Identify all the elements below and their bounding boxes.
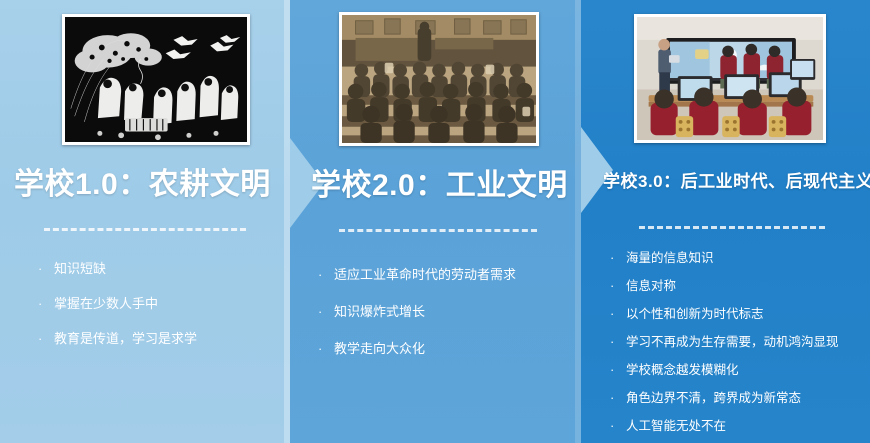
photo-frame-school-2: [339, 12, 539, 146]
bullet-dot-icon: ·: [318, 305, 334, 318]
bullet-dot-icon: ·: [610, 279, 626, 292]
bullet-list-school-2: ·适应工业革命时代的劳动者需求·知识爆炸式增长·教学走向大众化: [318, 264, 516, 375]
bullet-dot-icon: ·: [38, 297, 54, 310]
dashed-separator-2: [339, 229, 537, 232]
list-item: ·知识短缺: [38, 258, 197, 277]
list-item: ·以个性和创新为时代标志: [610, 303, 839, 322]
list-item: ·掌握在少数人手中: [38, 293, 197, 312]
list-item: ·人工智能无处不在: [610, 415, 839, 434]
list-item: ·海量的信息知识: [610, 247, 839, 266]
bullet-dot-icon: ·: [610, 251, 626, 264]
list-item-label: 掌握在少数人手中: [54, 293, 158, 312]
panel-title-school-3: 学校3.0：后工业时代、后现代主义: [603, 167, 870, 192]
list-item-label: 知识短缺: [54, 258, 106, 277]
dashed-separator-3: [639, 226, 825, 229]
list-item: ·知识爆炸式增长: [318, 301, 516, 320]
dashed-separator-1: [44, 228, 246, 231]
panel-title-school-2: 学校2.0：工业文明: [311, 160, 568, 204]
list-item-label: 角色边界不清，跨界成为新常态: [626, 387, 801, 406]
bullet-dot-icon: ·: [610, 335, 626, 348]
panel-divider-2: [575, 0, 581, 443]
list-item-label: 人工智能无处不在: [626, 415, 726, 434]
bullet-dot-icon: ·: [610, 419, 626, 432]
list-item: ·教学走向大众化: [318, 338, 516, 357]
list-item-label: 教育是传道，学习是求学: [54, 328, 197, 347]
list-item: ·信息对称: [610, 275, 839, 294]
list-item-label: 知识爆炸式增长: [334, 301, 425, 320]
list-item: ·学习不再成为生存需要，动机鸿沟显现: [610, 331, 839, 350]
list-item-label: 学校概念越发模糊化: [626, 359, 739, 378]
bullet-list-school-3: ·海量的信息知识·信息对称·以个性和创新为时代标志·学习不再成为生存需要，动机鸿…: [610, 247, 839, 443]
panel-divider-1: [284, 0, 290, 443]
bullet-dot-icon: ·: [610, 307, 626, 320]
list-item-label: 信息对称: [626, 275, 676, 294]
bullet-dot-icon: ·: [38, 262, 54, 275]
ancient-chinese-scholars-woodcut-image: [65, 17, 247, 142]
bullet-dot-icon: ·: [318, 268, 334, 281]
photo-frame-school-1: [62, 14, 250, 145]
slide-canvas: 学校1.0：农耕文明 学校2.0：工业文明 学校3.0：后工业时代、后现代主义 …: [0, 0, 870, 443]
bullet-dot-icon: ·: [38, 332, 54, 345]
panel-title-school-1: 学校1.0：农耕文明: [14, 159, 271, 203]
bullet-dot-icon: ·: [318, 342, 334, 355]
list-item-label: 教学走向大众化: [334, 338, 425, 357]
list-item: ·角色边界不清，跨界成为新常态: [610, 387, 839, 406]
list-item: ·教育是传道，学习是求学: [38, 328, 197, 347]
list-item-label: 海量的信息知识: [626, 247, 714, 266]
photo-frame-school-3: [634, 14, 826, 143]
list-item: ·学校概念越发模糊化: [610, 359, 839, 378]
list-item-label: 适应工业革命时代的劳动者需求: [334, 264, 516, 283]
list-item-label: 学习不再成为生存需要，动机鸿沟显现: [626, 331, 839, 350]
modern-smart-classroom-photo-image: [637, 17, 823, 140]
list-item-label: 以个性和创新为时代标志: [626, 303, 764, 322]
bullet-list-school-1: ·知识短缺·掌握在少数人手中·教育是传道，学习是求学: [38, 258, 197, 363]
bullet-dot-icon: ·: [610, 391, 626, 404]
list-item: ·适应工业革命时代的劳动者需求: [318, 264, 516, 283]
bullet-dot-icon: ·: [610, 363, 626, 376]
historical-classroom-photo-image: [342, 15, 536, 143]
